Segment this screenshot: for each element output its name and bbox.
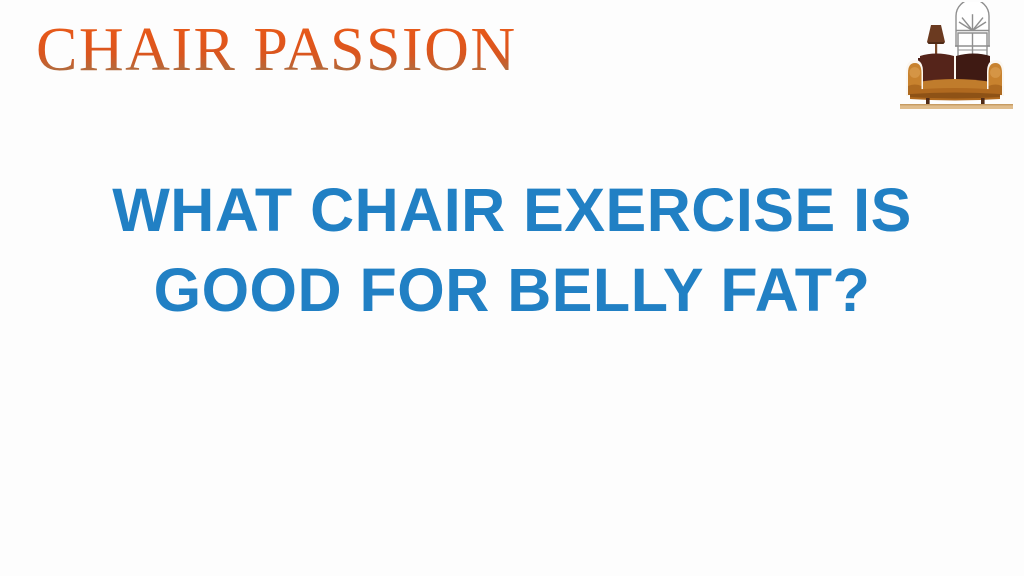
sofa-lamp-window-icon <box>896 2 1016 114</box>
headline-line-2: GOOD FOR BELLY FAT? <box>0 250 1024 330</box>
page-headline: WHAT CHAIR EXERCISE IS GOOD FOR BELLY FA… <box>0 170 1024 330</box>
page-canvas: CHAIR PASSION <box>0 0 1024 576</box>
headline-line-1: WHAT CHAIR EXERCISE IS <box>0 170 1024 250</box>
sofa-icon <box>906 54 1004 106</box>
brand-wordmark: CHAIR PASSION <box>36 19 517 81</box>
brand-logo[interactable]: CHAIR PASSION <box>36 12 556 88</box>
floor-line <box>900 104 1013 109</box>
arched-window-icon <box>955 2 990 60</box>
